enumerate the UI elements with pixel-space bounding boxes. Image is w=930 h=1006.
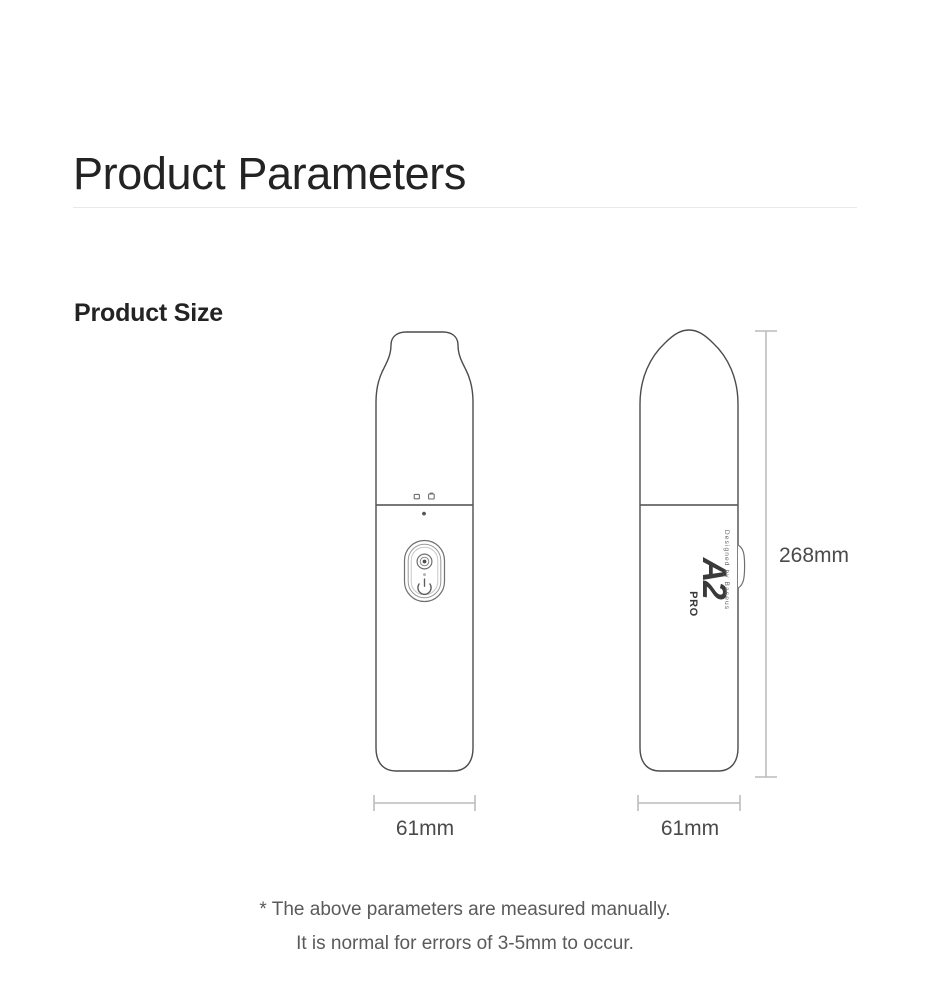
footnote-line-2: It is normal for errors of 3-5mm to occu… (0, 927, 930, 961)
product-parameters-page: Product Parameters Product Size (0, 0, 930, 1006)
side-view-width-label: 61mm (627, 817, 753, 841)
height-dimension-line (755, 331, 777, 777)
power-button-outer-bezel[interactable] (405, 541, 445, 602)
side-view-group: A2 PRO Designed by Baseus (640, 330, 745, 771)
led-indicator-dot (422, 512, 426, 516)
branding-designed-by-text: Designed by Baseus (723, 530, 730, 610)
power-button[interactable] (405, 541, 445, 602)
indicator-icon-right-cap (430, 493, 434, 495)
front-view-width-dimension-line (374, 795, 475, 811)
measurement-footnote: * The above parameters are measured manu… (0, 893, 930, 961)
front-view-width-label: 61mm (362, 817, 488, 841)
height-dimension-label: 268mm (779, 544, 849, 568)
diagram-svg: A2 PRO Designed by Baseus (0, 0, 930, 1006)
power-button-separator-dot (423, 573, 426, 576)
side-view-button-bump (738, 545, 745, 588)
side-view-width-dimension-line (638, 795, 740, 811)
footnote-line-1: * The above parameters are measured manu… (0, 893, 930, 927)
front-view-group (376, 332, 473, 771)
branding-tier-text: PRO (687, 591, 699, 617)
product-size-diagram: A2 PRO Designed by Baseus (0, 0, 930, 1006)
